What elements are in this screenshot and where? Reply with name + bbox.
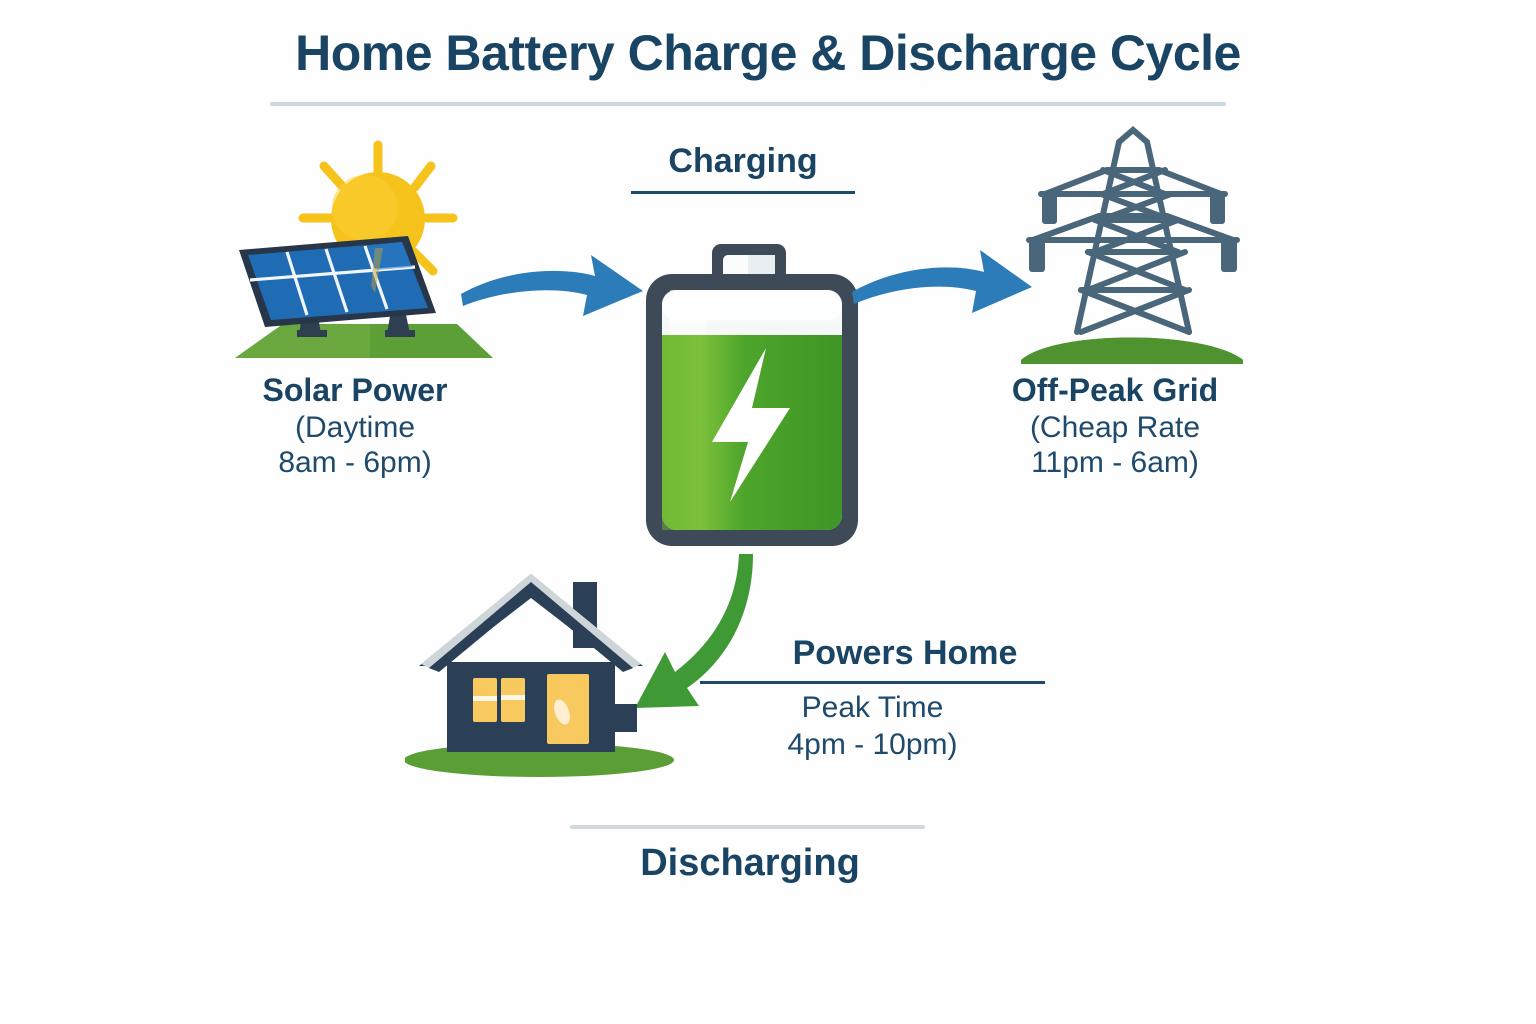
transmission-tower-icon [1015,120,1250,368]
page-title: Home Battery Charge & Discharge Cycle [0,24,1536,82]
discharging-divider [570,825,925,829]
solar-power-title: Solar Power [175,372,535,410]
house-icon [405,552,680,792]
charging-heading-block: Charging [598,142,888,194]
discharging-label: Discharging [560,842,940,885]
powers-home-label: Powers Home [700,634,1110,673]
off-peak-grid-subline-2: 11pm - 6am) [925,445,1305,480]
solar-power-label-block: Solar Power (Daytime 8am - 6pm) [175,372,535,481]
powers-home-subline-1: Peak Time [700,690,1045,727]
charging-underline [631,191,855,194]
powers-home-underline [700,681,1045,684]
off-peak-grid-subline-1: (Cheap Rate [925,410,1305,445]
battery-charging-icon [620,236,885,558]
charging-label: Charging [598,142,888,181]
title-divider [270,102,1226,106]
powers-home-block: Powers Home Peak Time 4pm - 10pm) [700,634,1110,763]
off-peak-grid-label-block: Off-Peak Grid (Cheap Rate 11pm - 6am) [925,372,1305,481]
off-peak-grid-title: Off-Peak Grid [925,372,1305,410]
infographic-canvas: Home Battery Charge & Discharge Cycle Ch… [0,0,1536,1024]
arrow-battery-to-grid [848,244,1038,326]
solar-power-subline-1: (Daytime [175,410,535,445]
solar-power-subline-2: 8am - 6pm) [175,445,535,480]
powers-home-subline-2: 4pm - 10pm) [700,727,1045,764]
